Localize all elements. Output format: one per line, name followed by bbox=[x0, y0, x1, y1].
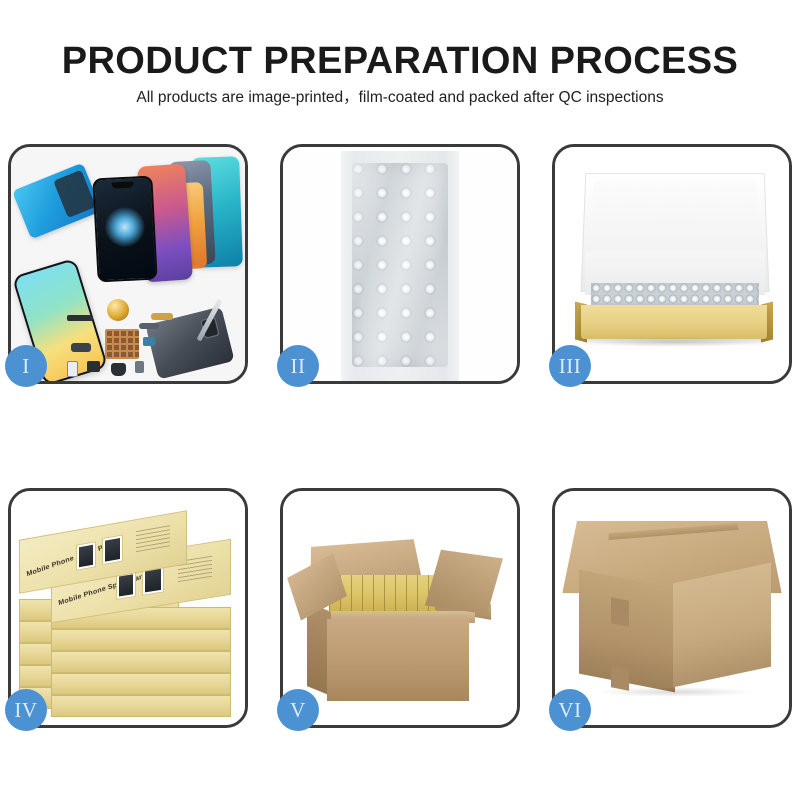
process-step-panel-1: I bbox=[8, 144, 248, 384]
stacked-box bbox=[51, 673, 231, 695]
flex-cable-icon bbox=[151, 313, 173, 320]
carton-front-face bbox=[327, 619, 469, 701]
stacked-box bbox=[51, 651, 231, 673]
step-badge-3: III bbox=[549, 345, 591, 387]
box-window bbox=[76, 541, 96, 571]
process-step-panel-2: II bbox=[280, 144, 520, 384]
box-window bbox=[102, 534, 123, 565]
step-badge-2: II bbox=[277, 345, 319, 387]
screen-protector-icon bbox=[92, 176, 157, 283]
carton-right-face bbox=[673, 563, 771, 688]
sim-tray-icon bbox=[67, 361, 78, 377]
process-step-panel-6: VI bbox=[552, 488, 792, 728]
box-spec-lines bbox=[136, 524, 170, 552]
yellow-box-front-icon bbox=[581, 305, 767, 339]
page-subtitle: All products are image-printed，film-coat… bbox=[0, 88, 800, 108]
product-preparation-process-page: PRODUCT PREPARATION PROCESS All products… bbox=[0, 0, 800, 800]
phone-parts-image bbox=[11, 147, 245, 381]
small-part-icon bbox=[87, 361, 100, 372]
small-part-icon bbox=[139, 323, 159, 329]
stacked-box bbox=[51, 629, 231, 651]
stacked-box bbox=[51, 695, 231, 717]
boxed-stack-image: Mobile Phone Spare Parts Mobile Phone Sp… bbox=[11, 491, 245, 725]
small-part-icon bbox=[67, 315, 93, 321]
speaker-coil-icon bbox=[107, 299, 129, 321]
step-badge-6: VI bbox=[549, 689, 591, 731]
box-shadow bbox=[589, 337, 761, 347]
process-step-panel-4: Mobile Phone Spare Parts Mobile Phone Sp… bbox=[8, 488, 248, 728]
inner-box-image bbox=[555, 147, 789, 381]
step-badge-1: I bbox=[5, 345, 47, 387]
carton-shadow bbox=[595, 687, 755, 697]
process-steps-grid: I II III bbox=[8, 144, 792, 728]
process-step-panel-5: V bbox=[280, 488, 520, 728]
process-step-panel-3: III bbox=[552, 144, 792, 384]
small-part-icon bbox=[135, 361, 144, 373]
box-stack: Mobile Phone Spare Parts Mobile Phone Sp… bbox=[11, 491, 245, 725]
blue-adhesive-phone-icon bbox=[12, 163, 102, 240]
sealed-carton-image bbox=[555, 491, 789, 725]
open-carton-image bbox=[283, 491, 517, 725]
step-badge-4: IV bbox=[5, 689, 47, 731]
page-header: PRODUCT PREPARATION PROCESS All products… bbox=[0, 0, 800, 130]
small-part-icon bbox=[71, 343, 91, 352]
plastic-sheen-overlay bbox=[352, 163, 448, 367]
small-part-icon bbox=[143, 337, 155, 346]
phone-parts-stage bbox=[11, 147, 245, 381]
carton-tape-tab-upper bbox=[611, 597, 629, 626]
carton-right-flap bbox=[425, 550, 503, 614]
step-badge-5: V bbox=[277, 689, 319, 731]
page-title: PRODUCT PREPARATION PROCESS bbox=[0, 40, 800, 82]
bubble-wrap-image bbox=[283, 147, 517, 381]
chip-array-icon bbox=[105, 329, 139, 359]
small-part-icon bbox=[111, 363, 126, 376]
